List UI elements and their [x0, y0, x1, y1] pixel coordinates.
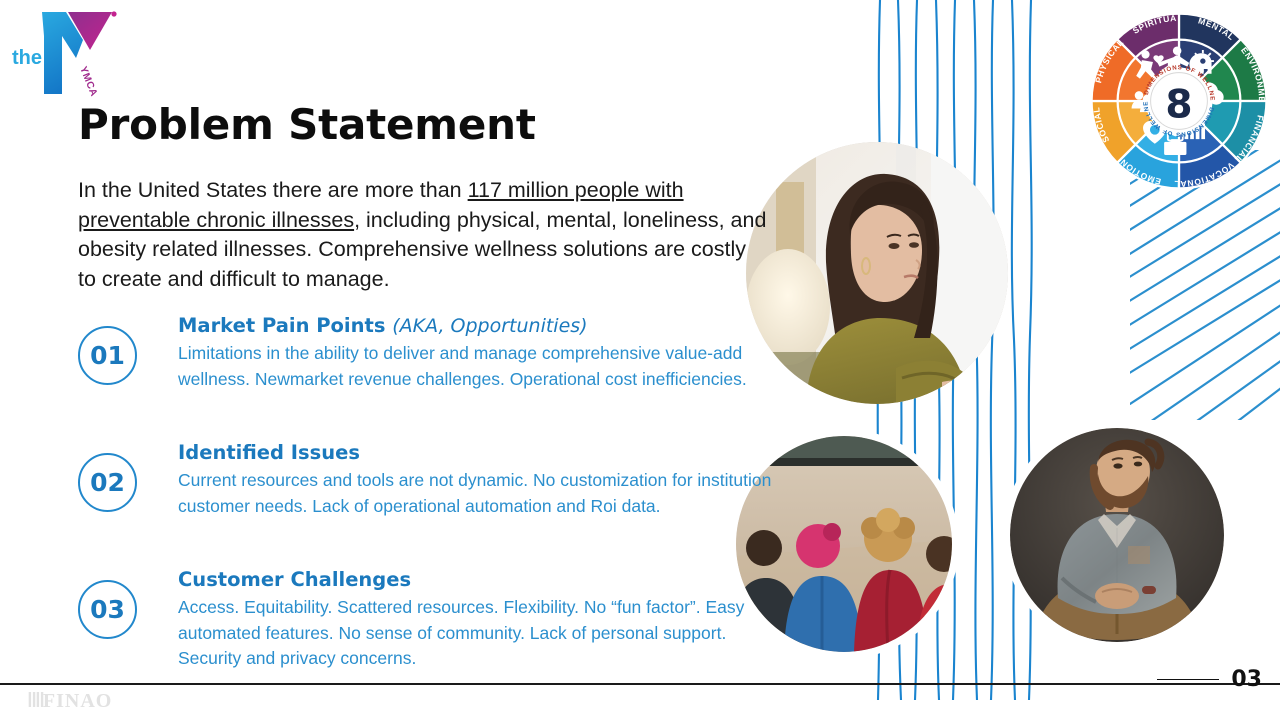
logo-ymca-text: YMCA — [77, 65, 99, 98]
wellness-wheel-graphic: MENTAL ENVIRONMENTAL FINANCIAL VOCATIONA… — [1086, 8, 1272, 194]
wheel-center-number: 8 — [1165, 83, 1192, 128]
item-number-badge-03: 03 — [78, 580, 137, 639]
finao-logo: ‖‖FINAO — [27, 690, 112, 713]
logo-the-text: the — [12, 47, 42, 69]
list-item: 01 Market Pain Points (AKA, Opportunitie… — [78, 314, 778, 432]
item-heading-sub-01: (AKA, Opportunities) — [392, 315, 587, 337]
item-body-01: Limitations in the ability to deliver an… — [178, 341, 778, 392]
photo-man-seated — [1010, 428, 1224, 642]
item-heading-01: Market Pain Points (AKA, Opportunities) — [178, 314, 778, 338]
intro-lead: In the United States there are more than — [78, 178, 468, 202]
problem-items-list: 01 Market Pain Points (AKA, Opportunitie… — [78, 314, 778, 686]
page-title: Problem Statement — [78, 104, 536, 146]
item-heading-02: Identified Issues — [178, 441, 778, 465]
ymca-logo: the YMCA — [6, 6, 126, 100]
photo-woman-seated — [746, 142, 1008, 404]
intro-paragraph: In the United States there are more than… — [78, 176, 768, 294]
footer-divider — [0, 683, 1280, 685]
list-item: 02 Identified Issues Current resources a… — [78, 441, 778, 559]
item-number-badge-01: 01 — [78, 326, 137, 385]
item-body-03: Access. Equitability. Scattered resource… — [178, 595, 778, 672]
page-number: 03 — [1231, 667, 1262, 692]
item-heading-main-02: Identified Issues — [178, 441, 360, 464]
item-heading-main-01: Market Pain Points — [178, 314, 392, 337]
item-heading-main-03: Customer Challenges — [178, 568, 411, 591]
slide-problem-statement: the YMCA — [0, 0, 1280, 720]
list-item: 03 Customer Challenges Access. Equitabil… — [78, 568, 778, 686]
page-number-rule — [1157, 679, 1219, 681]
finao-logo-text: FINAO — [43, 690, 112, 712]
finao-logo-bars: ‖‖ — [27, 690, 43, 712]
item-body-02: Current resources and tools are not dyna… — [178, 468, 778, 519]
item-heading-03: Customer Challenges — [178, 568, 778, 592]
item-number-badge-02: 02 — [78, 453, 137, 512]
page-number-group: 03 — [1157, 667, 1262, 692]
